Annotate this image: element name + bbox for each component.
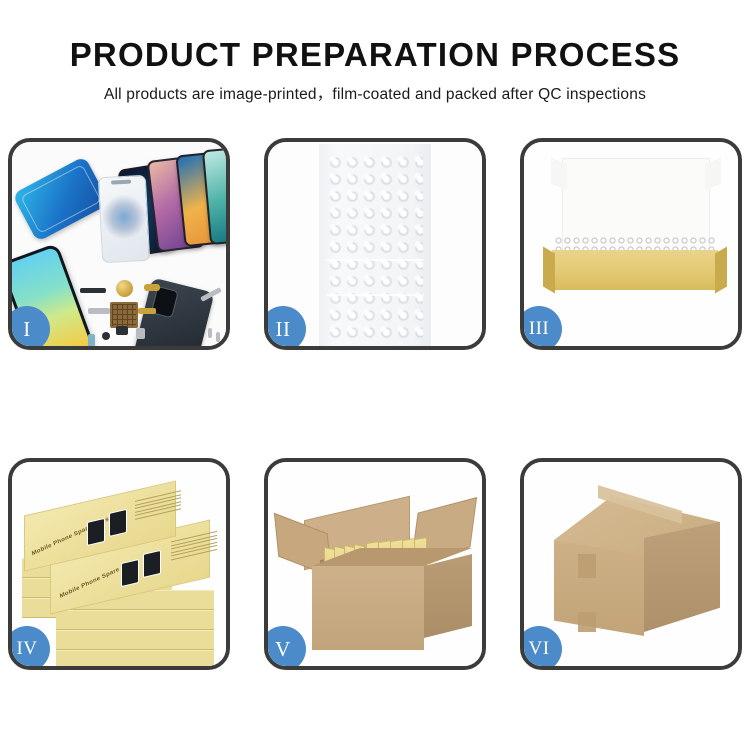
step-panel-3: III	[520, 138, 742, 350]
sealed-carton-side-icon	[644, 522, 720, 632]
step-3-illustration: III	[524, 142, 738, 346]
metal-bracket-icon	[88, 308, 110, 314]
button-part-icon	[102, 332, 110, 340]
sealed-carton-front-icon	[554, 540, 644, 636]
yellow-box-tray-icon	[552, 250, 718, 290]
step-badge-5: V	[268, 626, 306, 666]
connector-part-icon	[88, 334, 95, 346]
speaker-part-icon	[116, 280, 133, 297]
step-panel-6: VI	[520, 458, 742, 670]
flex-cable-icon-2	[138, 308, 156, 314]
steps-grid: I II III	[8, 138, 742, 686]
screw-icon-2	[216, 332, 220, 342]
product-preparation-infographic: PRODUCT PREPARATION PROCESS All products…	[0, 0, 750, 750]
header: PRODUCT PREPARATION PROCESS All products…	[0, 0, 750, 104]
packing-tape-front-icon-1	[578, 554, 596, 578]
camera-module-icon	[116, 326, 128, 335]
chip-array-icon	[110, 302, 138, 328]
screen-protector-icon	[98, 175, 150, 263]
packing-tape-front-icon-2	[578, 612, 596, 632]
blue-phone-part-icon	[12, 156, 110, 242]
pouch-seam	[319, 144, 431, 346]
vibrator-part-icon	[136, 328, 145, 339]
page-title: PRODUCT PREPARATION PROCESS	[0, 38, 750, 73]
earpiece-part-icon	[80, 288, 106, 293]
step-2-illustration: II	[268, 142, 482, 346]
step-panel-4: Mobile Phone Spare Parts Mobile Phone Sp…	[8, 458, 230, 670]
page-subtitle: All products are image-printed，film-coat…	[0, 82, 750, 104]
step-panel-2: II	[264, 138, 486, 350]
step-4-illustration: Mobile Phone Spare Parts Mobile Phone Sp…	[12, 462, 226, 666]
step-6-illustration: VI	[524, 462, 738, 666]
step-1-illustration: I	[12, 142, 226, 346]
step-panel-5: V	[264, 458, 486, 670]
step-badge-6: VI	[524, 626, 562, 666]
carton-side-icon	[424, 554, 472, 638]
step-badge-4: IV	[12, 626, 50, 666]
box-print-lines-back	[135, 490, 181, 522]
step-panel-1: I	[8, 138, 230, 350]
step-5-illustration: V	[268, 462, 482, 666]
box-print-lines-front	[171, 531, 217, 563]
carton-front-icon	[312, 566, 424, 650]
flex-cable-icon-1	[144, 284, 160, 291]
step-badge-3: III	[524, 306, 562, 346]
screw-icon-1	[208, 328, 212, 338]
bubble-wrap-pouch-icon	[319, 144, 431, 346]
step-badge-2: II	[268, 306, 306, 346]
